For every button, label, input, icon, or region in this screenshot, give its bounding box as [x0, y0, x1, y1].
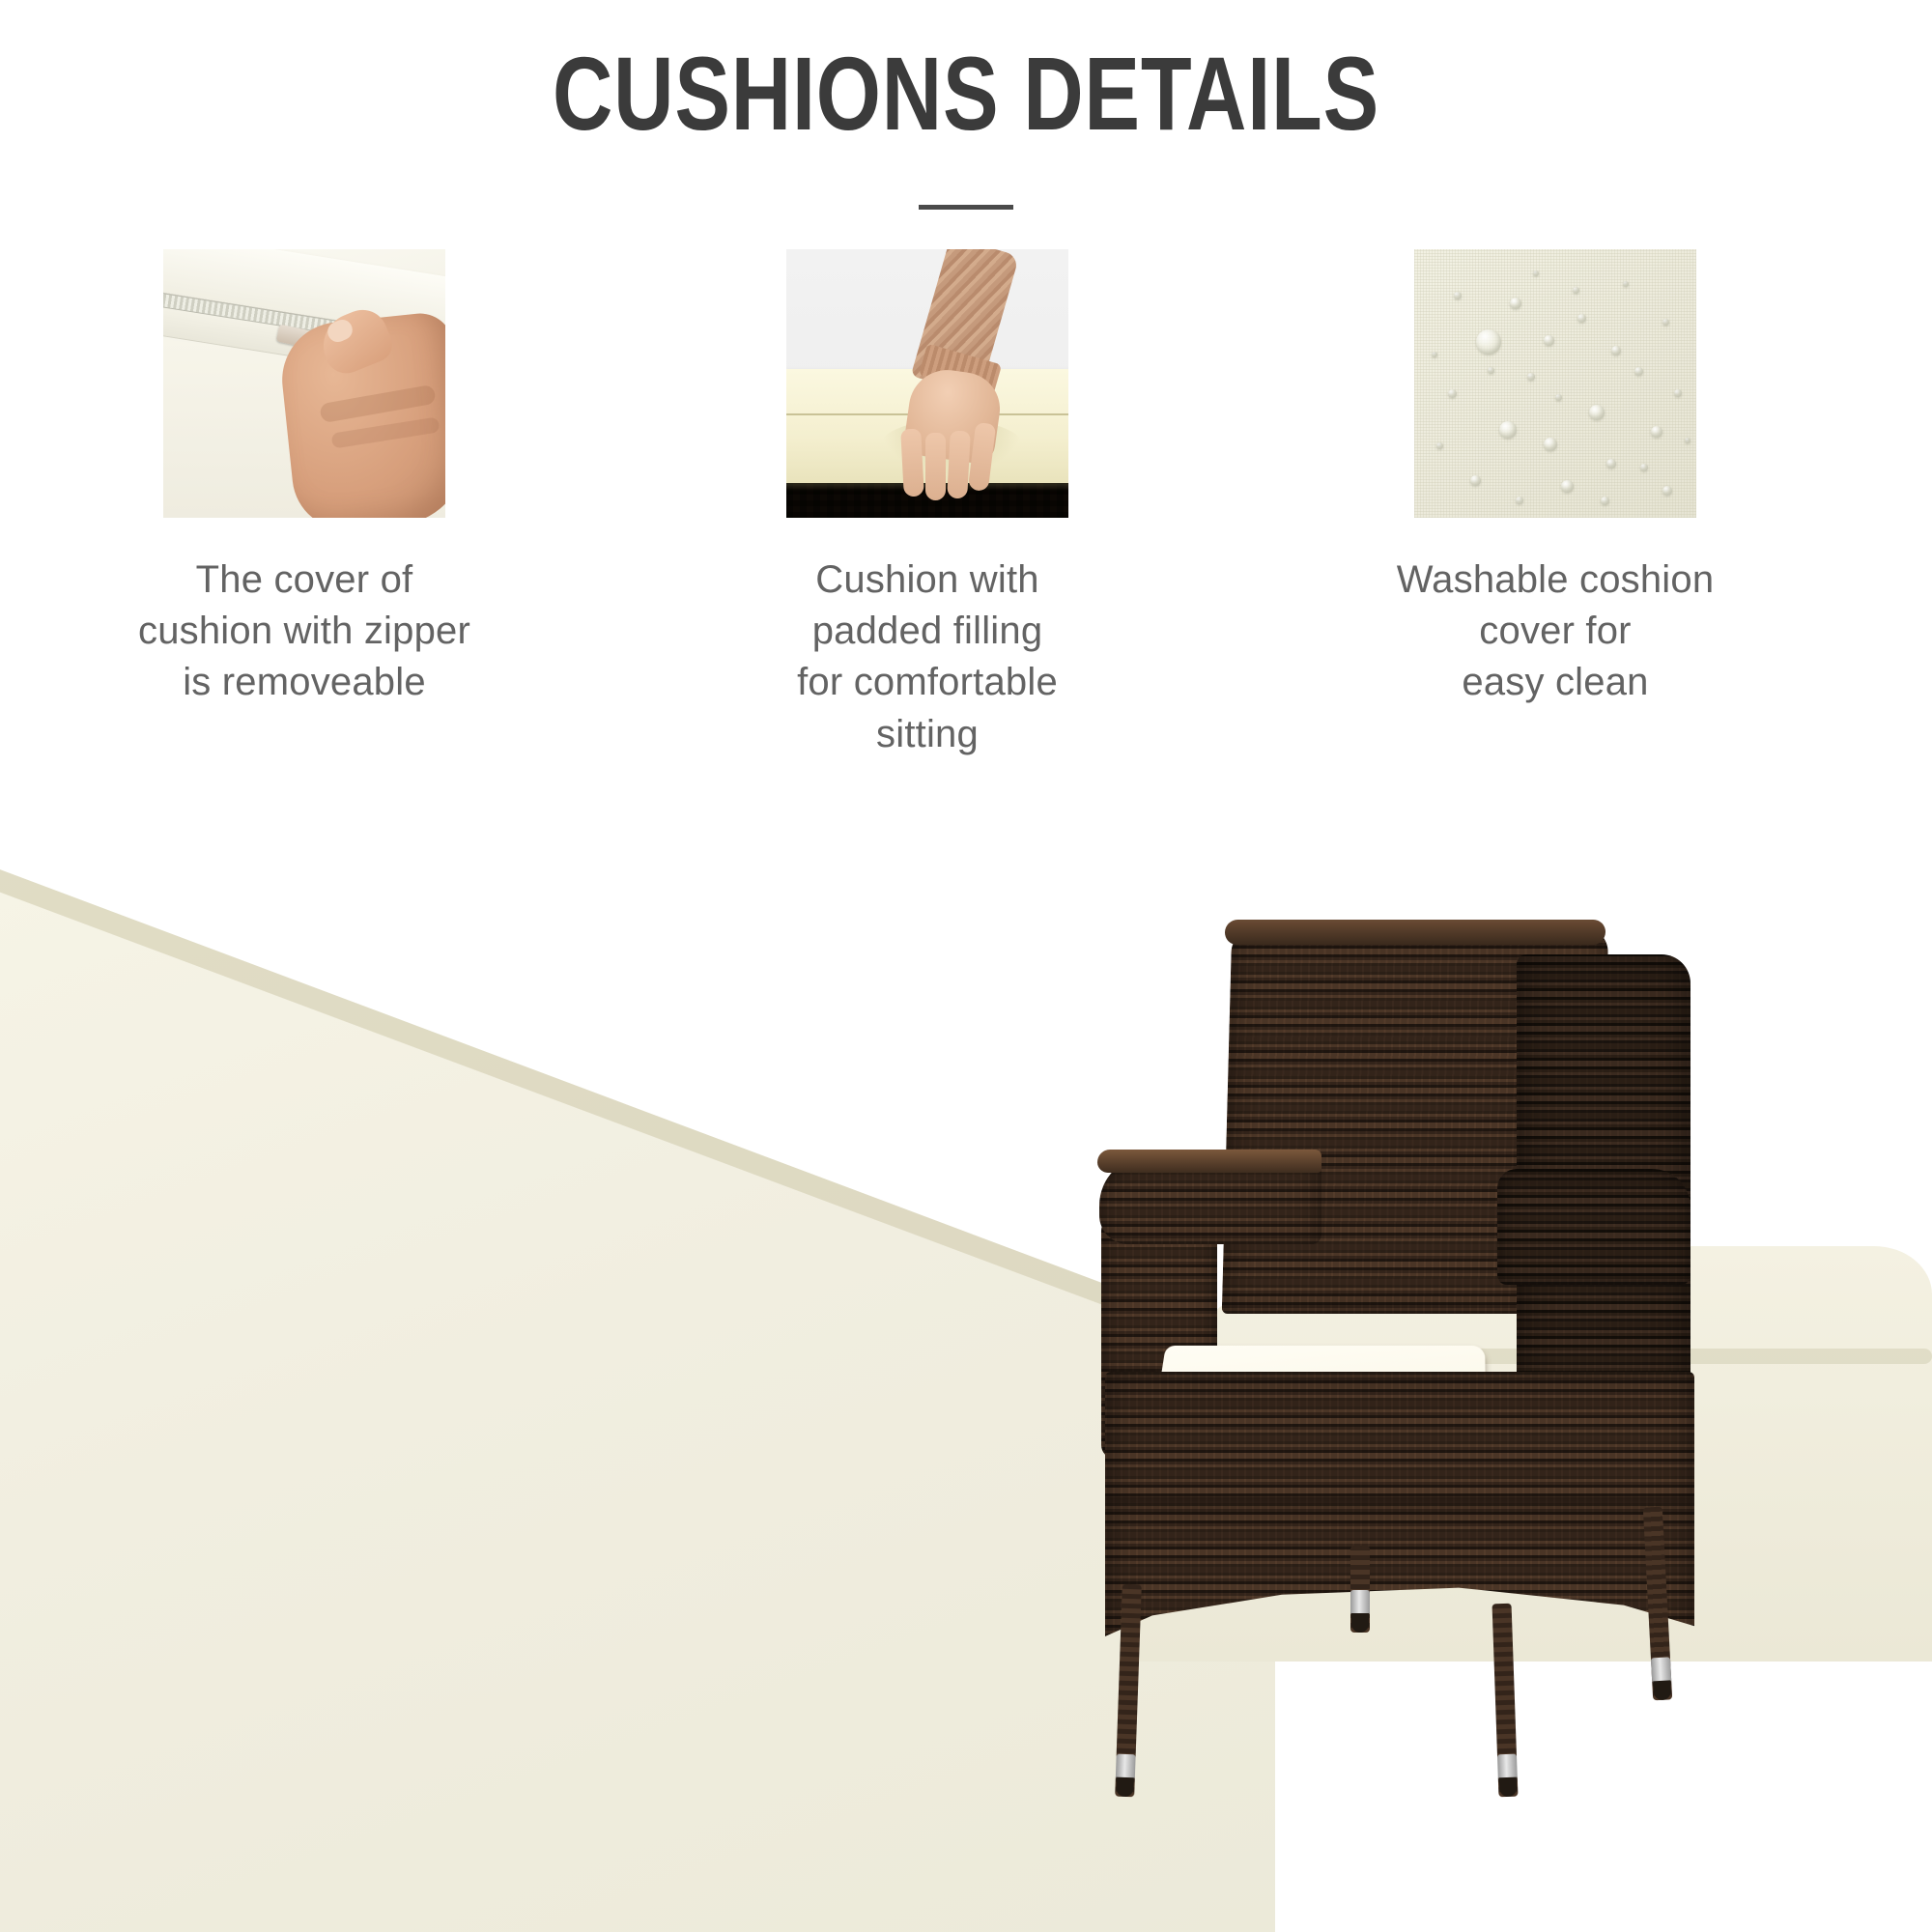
chair-backrest-rim: [1225, 920, 1606, 945]
water-droplet: [1527, 373, 1535, 381]
feature-caption: Washable coshion cover for easy clean: [1348, 554, 1763, 709]
water-droplet: [1544, 438, 1557, 451]
water-droplet: [1499, 421, 1517, 439]
woven-fabric-surface: [1414, 249, 1696, 518]
chair-leg: [1492, 1604, 1519, 1798]
water-droplet: [1533, 270, 1539, 276]
water-droplet: [1662, 486, 1672, 496]
finger: [947, 430, 971, 498]
title-divider: [919, 205, 1013, 210]
leg-tip: [1499, 1777, 1518, 1798]
feature-item-zipper: The cover of cushion with zipper is remo…: [97, 249, 512, 709]
feature-caption: The cover of cushion with zipper is remo…: [97, 554, 512, 709]
water-repellent-fabric-photo: [1414, 249, 1696, 518]
chair-leg: [1350, 1546, 1370, 1633]
water-droplet: [1573, 287, 1579, 294]
water-droplet: [1561, 480, 1574, 493]
leg-tip: [1351, 1613, 1369, 1633]
finger: [925, 433, 946, 500]
leg-tip: [1653, 1680, 1671, 1700]
chair-left-armrest-rim: [1097, 1150, 1321, 1173]
water-droplet: [1448, 389, 1457, 398]
chair-skirt: [1105, 1497, 1694, 1671]
water-droplet: [1432, 352, 1437, 357]
leg-ferrule: [1651, 1657, 1671, 1683]
finger: [900, 428, 924, 497]
water-droplet: [1516, 497, 1523, 504]
brown-rattan-armchair: [1111, 927, 1884, 1797]
feature-item-washable: Washable coshion cover for easy clean: [1348, 249, 1763, 709]
water-droplet: [1601, 497, 1609, 505]
water-droplet: [1470, 475, 1481, 486]
large-cream-cushion: [0, 850, 1275, 1932]
leg-ferrule: [1116, 1754, 1136, 1780]
cushion-padding-photo: [786, 249, 1068, 518]
water-droplet: [1685, 438, 1690, 443]
feature-item-padding: Cushion with padded filling for comforta…: [720, 249, 1135, 760]
feature-caption: Cushion with padded filling for comforta…: [720, 554, 1135, 760]
leg-ferrule: [1350, 1590, 1370, 1615]
water-droplet: [1640, 464, 1648, 471]
water-droplet: [1674, 389, 1682, 397]
page-title: CUSHIONS DETAILS: [193, 33, 1739, 154]
feature-row: The cover of cushion with zipper is remo…: [0, 249, 1932, 752]
water-droplet: [1606, 459, 1616, 469]
cushion-zipper-photo: [163, 249, 445, 518]
leg-tip: [1116, 1777, 1134, 1798]
chair-right-armrest: [1497, 1169, 1690, 1285]
leg-ferrule: [1497, 1754, 1518, 1780]
